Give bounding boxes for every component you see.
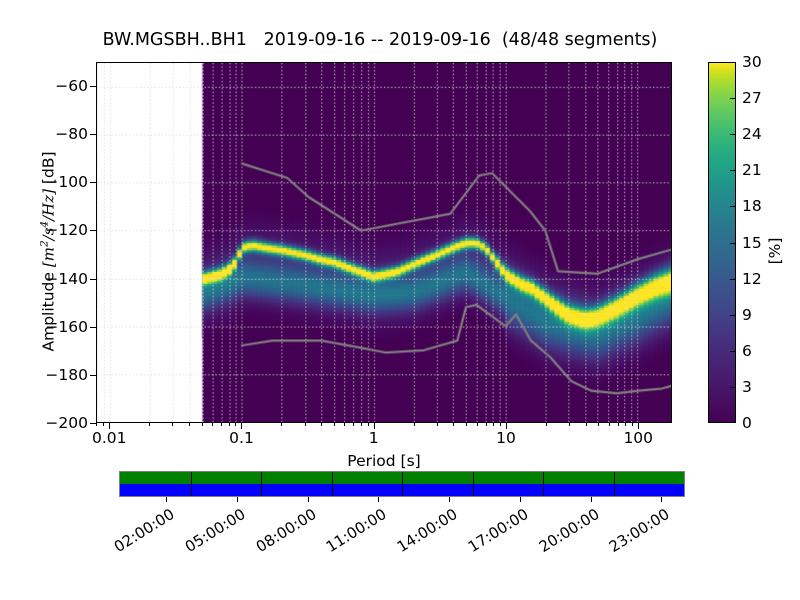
y-axis-tick-label: −60 (55, 77, 88, 95)
x-axis-minor-tick-mark (202, 423, 203, 426)
y-axis-tick-mark (90, 182, 96, 183)
x-axis-tick-label: 0.1 (229, 429, 254, 447)
colorbar-tick-label: 15 (742, 234, 762, 252)
x-axis-minor-tick-mark (586, 423, 587, 426)
time-axis-tick-label: 20:00:00 (525, 505, 602, 563)
y-axis-tick-mark (90, 86, 96, 87)
x-axis-tick-label: 100 (623, 429, 653, 447)
time-axis-tick-mark (449, 497, 450, 502)
y-axis-tick-label: −140 (45, 270, 88, 288)
y-axis-tick-label: −200 (45, 414, 88, 432)
colorbar-tick-mark (730, 315, 736, 316)
x-axis-minor-tick-mark (493, 423, 494, 426)
time-axis-tick-label: 17:00:00 (454, 505, 531, 563)
x-axis-minor-tick-mark (229, 423, 230, 426)
x-axis-minor-tick-mark (368, 423, 369, 426)
x-axis-tick-mark (374, 423, 375, 429)
time-axis-tick-mark (378, 497, 379, 502)
time-axis-tick-label: 23:00:00 (596, 505, 673, 563)
colorbar-tick-label: 30 (742, 53, 762, 71)
y-axis-tick-label: −180 (45, 366, 88, 384)
x-axis-minor-tick-mark (546, 423, 547, 426)
colorbar-label: [%] (766, 191, 784, 311)
x-axis-minor-tick-mark (172, 423, 173, 426)
x-axis-minor-tick-mark (618, 423, 619, 426)
y-axis-tick-mark (90, 279, 96, 280)
x-axis-minor-tick-mark (466, 423, 467, 426)
x-axis-minor-tick-mark (437, 423, 438, 426)
y-axis-tick-label: −120 (45, 221, 88, 239)
time-axis-tick-mark (591, 497, 592, 502)
x-axis-minor-tick-mark (361, 423, 362, 426)
y-axis-tick-mark (90, 327, 96, 328)
x-axis-minor-tick-mark (477, 423, 478, 426)
x-axis-tick-mark (241, 423, 242, 429)
x-axis-minor-tick-mark (189, 423, 190, 426)
coverage-axes[interactable] (119, 471, 685, 497)
y-axis-tick-label: −160 (45, 318, 88, 336)
x-axis-minor-tick-mark (149, 423, 150, 426)
time-axis-tick-label: 14:00:00 (383, 505, 460, 563)
x-axis-minor-tick-mark (486, 423, 487, 426)
coverage-divider (402, 472, 403, 496)
x-axis-tick-label: 0.01 (92, 429, 127, 447)
x-axis-minor-tick-mark (235, 423, 236, 426)
time-axis-tick-mark (308, 497, 309, 502)
y-axis-tick-mark (90, 230, 96, 231)
time-axis-tick-label: 08:00:00 (242, 505, 319, 563)
y-axis-tick-mark (90, 134, 96, 135)
time-axis-tick-label: 02:00:00 (100, 505, 177, 563)
colorbar-tick-mark (730, 98, 736, 99)
y-axis-tick-label: −100 (45, 173, 88, 191)
x-axis-tick-mark (638, 423, 639, 429)
colorbar-tick-mark (730, 351, 736, 352)
x-axis-minor-tick-mark (281, 423, 282, 426)
x-axis-minor-tick-mark (212, 423, 213, 426)
colorbar-tick-mark (730, 134, 736, 135)
colorbar-tick-label: 3 (742, 378, 752, 396)
x-axis-minor-tick-mark (453, 423, 454, 426)
x-axis-minor-tick-mark (221, 423, 222, 426)
colorbar-tick-mark (730, 387, 736, 388)
time-axis-tick-label: 05:00:00 (171, 505, 248, 563)
x-axis-tick-label: 1 (369, 429, 379, 447)
colorbar-tick-mark (730, 279, 736, 280)
colorbar-tick-label: 24 (742, 125, 762, 143)
x-axis-minor-tick-mark (625, 423, 626, 426)
colorbar-tick-label: 0 (742, 414, 752, 432)
x-axis-minor-tick-mark (305, 423, 306, 426)
y-axis-tick-mark (90, 423, 96, 424)
coverage-divider (543, 472, 544, 496)
x-axis-minor-tick-mark (632, 423, 633, 426)
colorbar-tick-label: 9 (742, 306, 752, 324)
ppsd-axes[interactable] (96, 62, 672, 423)
colorbar-tick-label: 21 (742, 161, 762, 179)
x-axis-minor-tick-mark (500, 423, 501, 426)
colorbar-tick-label: 27 (742, 89, 762, 107)
colorbar-tick-mark (730, 243, 736, 244)
time-axis-tick-mark (520, 497, 521, 502)
time-axis-tick-mark (166, 497, 167, 502)
x-axis-minor-tick-mark (321, 423, 322, 426)
colorbar-tick-label: 6 (742, 342, 752, 360)
page-title: BW.MGSBH..BH1 2019-09-16 -- 2019-09-16 (… (0, 30, 760, 50)
x-axis-minor-tick-mark (103, 423, 104, 426)
x-axis-label: Period [s] (96, 452, 672, 470)
x-axis-minor-tick-mark (569, 423, 570, 426)
coverage-divider (332, 472, 333, 496)
time-axis-tick-mark (237, 497, 238, 502)
x-axis-minor-tick-mark (334, 423, 335, 426)
x-axis-minor-tick-mark (414, 423, 415, 426)
x-axis-tick-label: 10 (496, 429, 516, 447)
ppsd-histogram-canvas (97, 63, 671, 422)
y-axis-tick-mark (90, 375, 96, 376)
coverage-divider (191, 472, 192, 496)
x-axis-minor-tick-mark (598, 423, 599, 426)
time-axis-tick-label: 11:00:00 (313, 505, 390, 563)
ppsd-figure: BW.MGSBH..BH1 2019-09-16 -- 2019-09-16 (… (0, 0, 800, 600)
x-axis-minor-tick-mark (344, 423, 345, 426)
x-axis-tick-mark (506, 423, 507, 429)
x-axis-tick-mark (109, 423, 110, 429)
coverage-divider (261, 472, 262, 496)
coverage-divider (473, 472, 474, 496)
colorbar-tick-mark (730, 206, 736, 207)
colorbar-tick-label: 12 (742, 270, 762, 288)
x-axis-minor-tick-mark (96, 423, 97, 426)
colorbar-tick-label: 18 (742, 197, 762, 215)
coverage-divider (614, 472, 615, 496)
x-axis-minor-tick-mark (609, 423, 610, 426)
x-axis-minor-tick-mark (353, 423, 354, 426)
time-axis-tick-mark (661, 497, 662, 502)
y-axis-tick-label: −80 (55, 125, 88, 143)
colorbar-tick-mark (730, 170, 736, 171)
